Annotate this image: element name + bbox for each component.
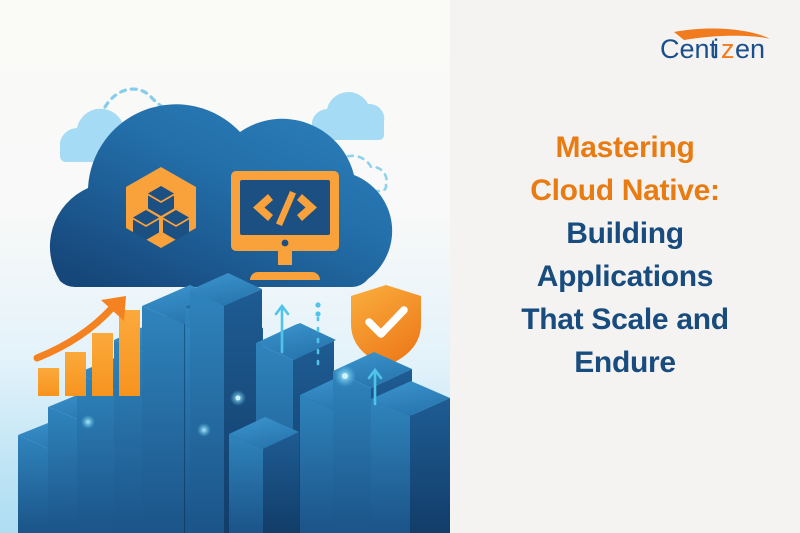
cloud-native-banner: Cent i z en Mastering Cloud Native: Buil…: [0, 0, 800, 533]
content-panel: Cent i z en Mastering Cloud Native: Buil…: [450, 0, 800, 533]
headline-line-6: Endure: [456, 341, 794, 384]
illustration-panel: [0, 0, 450, 533]
headline-line-5: That Scale and: [456, 298, 794, 341]
block: [371, 381, 450, 533]
logo-text-i: i: [713, 34, 719, 64]
cyan-accent-dots: [315, 302, 320, 316]
headline-line-2: Cloud Native:: [456, 169, 794, 212]
logo-text-z: z: [721, 34, 735, 64]
page-title: Mastering Cloud Native: Building Applica…: [456, 126, 794, 384]
logo-text-cent: Cent: [660, 34, 718, 64]
headline-line-3: Building: [456, 212, 794, 255]
centizen-logo[interactable]: Cent i z en: [660, 26, 780, 66]
headline-line-4: Applications: [456, 255, 794, 298]
shield-check-icon: [351, 285, 421, 366]
logo-text-en: en: [735, 34, 765, 64]
headline-line-1: Mastering: [456, 126, 794, 169]
block: [229, 417, 299, 533]
